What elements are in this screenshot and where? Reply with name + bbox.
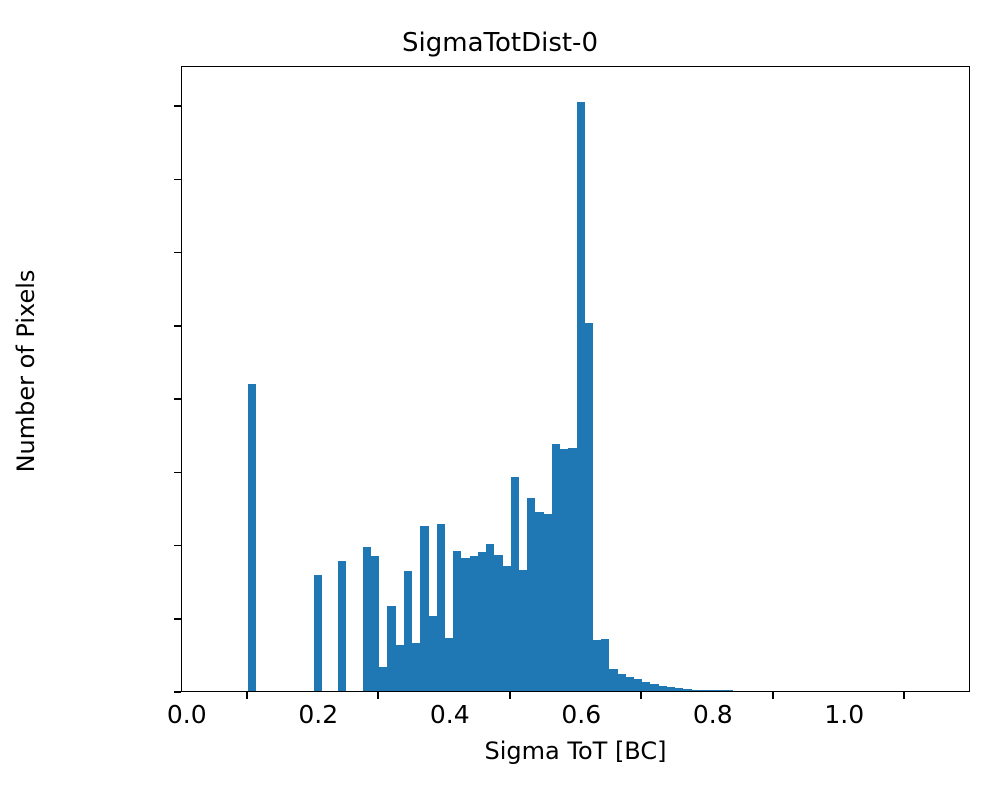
histogram-bar: [338, 561, 346, 691]
x-tick-mark: [903, 692, 905, 699]
histogram-bar: [429, 616, 437, 691]
y-tick-mark: [174, 179, 181, 181]
histogram-bar: [511, 477, 519, 691]
histogram-bar: [314, 575, 322, 691]
histogram-bar: [412, 643, 420, 691]
histogram-bar: [445, 638, 453, 691]
figure-canvas: SigmaTotDist-0 Number of Pixels Sigma To…: [0, 0, 1000, 800]
y-tick-mark: [174, 325, 181, 327]
x-tick-label: 0.2: [258, 700, 378, 729]
histogram-bar: [667, 687, 675, 691]
histogram-bar: [642, 682, 650, 691]
histogram-bars: [182, 67, 969, 691]
histogram-bar: [248, 384, 256, 691]
histogram-bar: [724, 690, 732, 691]
x-tick-label: 0.8: [653, 700, 773, 729]
histogram-bar: [371, 556, 379, 691]
y-tick-mark: [174, 398, 181, 400]
histogram-bar: [659, 686, 667, 691]
histogram-bar: [387, 606, 395, 691]
histogram-bar: [544, 514, 552, 691]
x-axis-label: Sigma ToT [BC]: [181, 737, 970, 765]
histogram-bar: [618, 674, 626, 691]
histogram-bar: [379, 667, 387, 691]
histogram-bar: [577, 102, 585, 691]
y-tick-mark: [174, 252, 181, 254]
histogram-bar: [626, 677, 634, 691]
histogram-bar: [396, 645, 404, 691]
x-tick-label: 0.4: [390, 700, 510, 729]
x-tick-mark: [246, 692, 248, 699]
plot-area: [181, 66, 970, 692]
histogram-bar: [609, 669, 617, 691]
histogram-bar: [692, 690, 700, 691]
histogram-bar: [470, 556, 478, 691]
histogram-bar: [503, 566, 511, 691]
y-tick-mark: [174, 472, 181, 474]
histogram-bar: [461, 558, 469, 691]
y-tick-mark: [174, 618, 181, 620]
histogram-bar: [675, 688, 683, 691]
histogram-bar: [708, 690, 716, 691]
chart-title: SigmaTotDist-0: [0, 28, 1000, 58]
histogram-bar: [404, 571, 412, 691]
x-tick-mark: [509, 692, 511, 699]
histogram-bar: [585, 323, 593, 691]
histogram-bar: [716, 690, 724, 691]
x-tick-label: 1.0: [784, 700, 904, 729]
histogram-bar: [494, 555, 502, 691]
histogram-bar: [568, 448, 576, 691]
x-tick-mark: [377, 692, 379, 699]
y-tick-mark: [174, 691, 181, 693]
histogram-bar: [519, 570, 527, 691]
histogram-bar: [552, 444, 560, 691]
histogram-bar: [363, 547, 371, 691]
histogram-bar: [453, 551, 461, 691]
histogram-bar: [535, 512, 543, 691]
histogram-bar: [700, 690, 708, 691]
y-axis-label: Number of Pixels: [12, 111, 40, 631]
x-tick-mark: [640, 692, 642, 699]
histogram-bar: [527, 498, 535, 691]
x-tick-mark: [772, 692, 774, 699]
histogram-bar: [437, 524, 445, 691]
histogram-bar: [650, 684, 658, 691]
histogram-bar: [478, 552, 486, 691]
y-tick-mark: [174, 105, 181, 107]
x-tick-label: 0.0: [127, 700, 247, 729]
histogram-bar: [634, 679, 642, 691]
y-tick-mark: [174, 545, 181, 547]
histogram-bar: [683, 689, 691, 691]
x-tick-label: 0.6: [521, 700, 641, 729]
histogram-bar: [560, 449, 568, 691]
histogram-bar: [486, 544, 494, 691]
histogram-bar: [593, 640, 601, 691]
histogram-bar: [420, 526, 428, 691]
histogram-bar: [601, 639, 609, 691]
